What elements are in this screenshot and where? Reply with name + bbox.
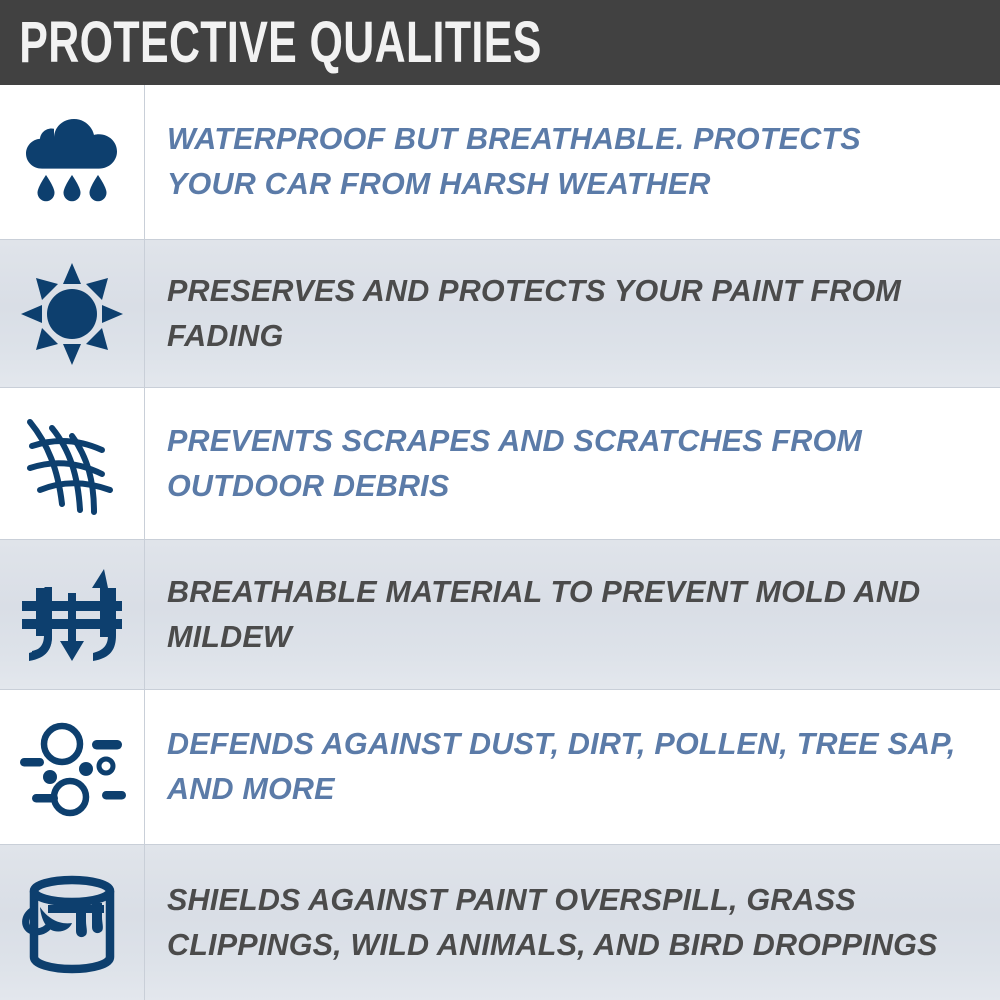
protective-qualities-infographic: PROTECTIVE QUALITIES WATERPROOF BUT BREA… [0, 0, 1000, 1000]
paint-can-icon [18, 869, 126, 977]
icon-cell [0, 845, 145, 1000]
header-bar: PROTECTIVE QUALITIES [0, 0, 1000, 85]
feature-text: WATERPROOF BUT BREATHABLE. PROTECTS YOUR… [167, 117, 957, 207]
text-cell: SHIELDS AGAINST PAINT OVERSPILL, GRASS C… [145, 845, 1000, 1000]
feature-row: PREVENTS SCRAPES AND SCRATCHES FROM OUTD… [0, 388, 1000, 540]
text-cell: DEFENDS AGAINST DUST, DIRT, POLLEN, TREE… [145, 690, 1000, 844]
icon-cell [0, 540, 145, 689]
text-cell: PRESERVES AND PROTECTS YOUR PAINT FROM F… [145, 240, 1000, 387]
text-cell: PREVENTS SCRAPES AND SCRATCHES FROM OUTD… [145, 388, 1000, 539]
dust-particles-icon [18, 713, 126, 821]
icon-cell [0, 388, 145, 539]
feature-text: PREVENTS SCRAPES AND SCRATCHES FROM OUTD… [167, 419, 957, 509]
feature-row: DEFENDS AGAINST DUST, DIRT, POLLEN, TREE… [0, 690, 1000, 845]
feature-row: WATERPROOF BUT BREATHABLE. PROTECTS YOUR… [0, 85, 1000, 240]
feature-list: WATERPROOF BUT BREATHABLE. PROTECTS YOUR… [0, 85, 1000, 1000]
icon-cell [0, 85, 145, 239]
feature-row: BREATHABLE MATERIAL TO PREVENT MOLD AND … [0, 540, 1000, 690]
feature-text: SHIELDS AGAINST PAINT OVERSPILL, GRASS C… [167, 878, 957, 968]
page-title: PROTECTIVE QUALITIES [0, 14, 542, 72]
icon-cell [0, 690, 145, 844]
mesh-net-icon [18, 410, 126, 518]
sun-icon [18, 260, 126, 368]
feature-text: PRESERVES AND PROTECTS YOUR PAINT FROM F… [167, 269, 957, 359]
feature-row: PRESERVES AND PROTECTS YOUR PAINT FROM F… [0, 240, 1000, 388]
rain-cloud-icon [18, 108, 126, 216]
icon-cell [0, 240, 145, 387]
feature-row: SHIELDS AGAINST PAINT OVERSPILL, GRASS C… [0, 845, 1000, 1000]
text-cell: BREATHABLE MATERIAL TO PREVENT MOLD AND … [145, 540, 1000, 689]
breathable-airflow-icon [18, 561, 126, 669]
feature-text: BREATHABLE MATERIAL TO PREVENT MOLD AND … [167, 570, 957, 660]
feature-text: DEFENDS AGAINST DUST, DIRT, POLLEN, TREE… [167, 722, 957, 812]
text-cell: WATERPROOF BUT BREATHABLE. PROTECTS YOUR… [145, 85, 1000, 239]
